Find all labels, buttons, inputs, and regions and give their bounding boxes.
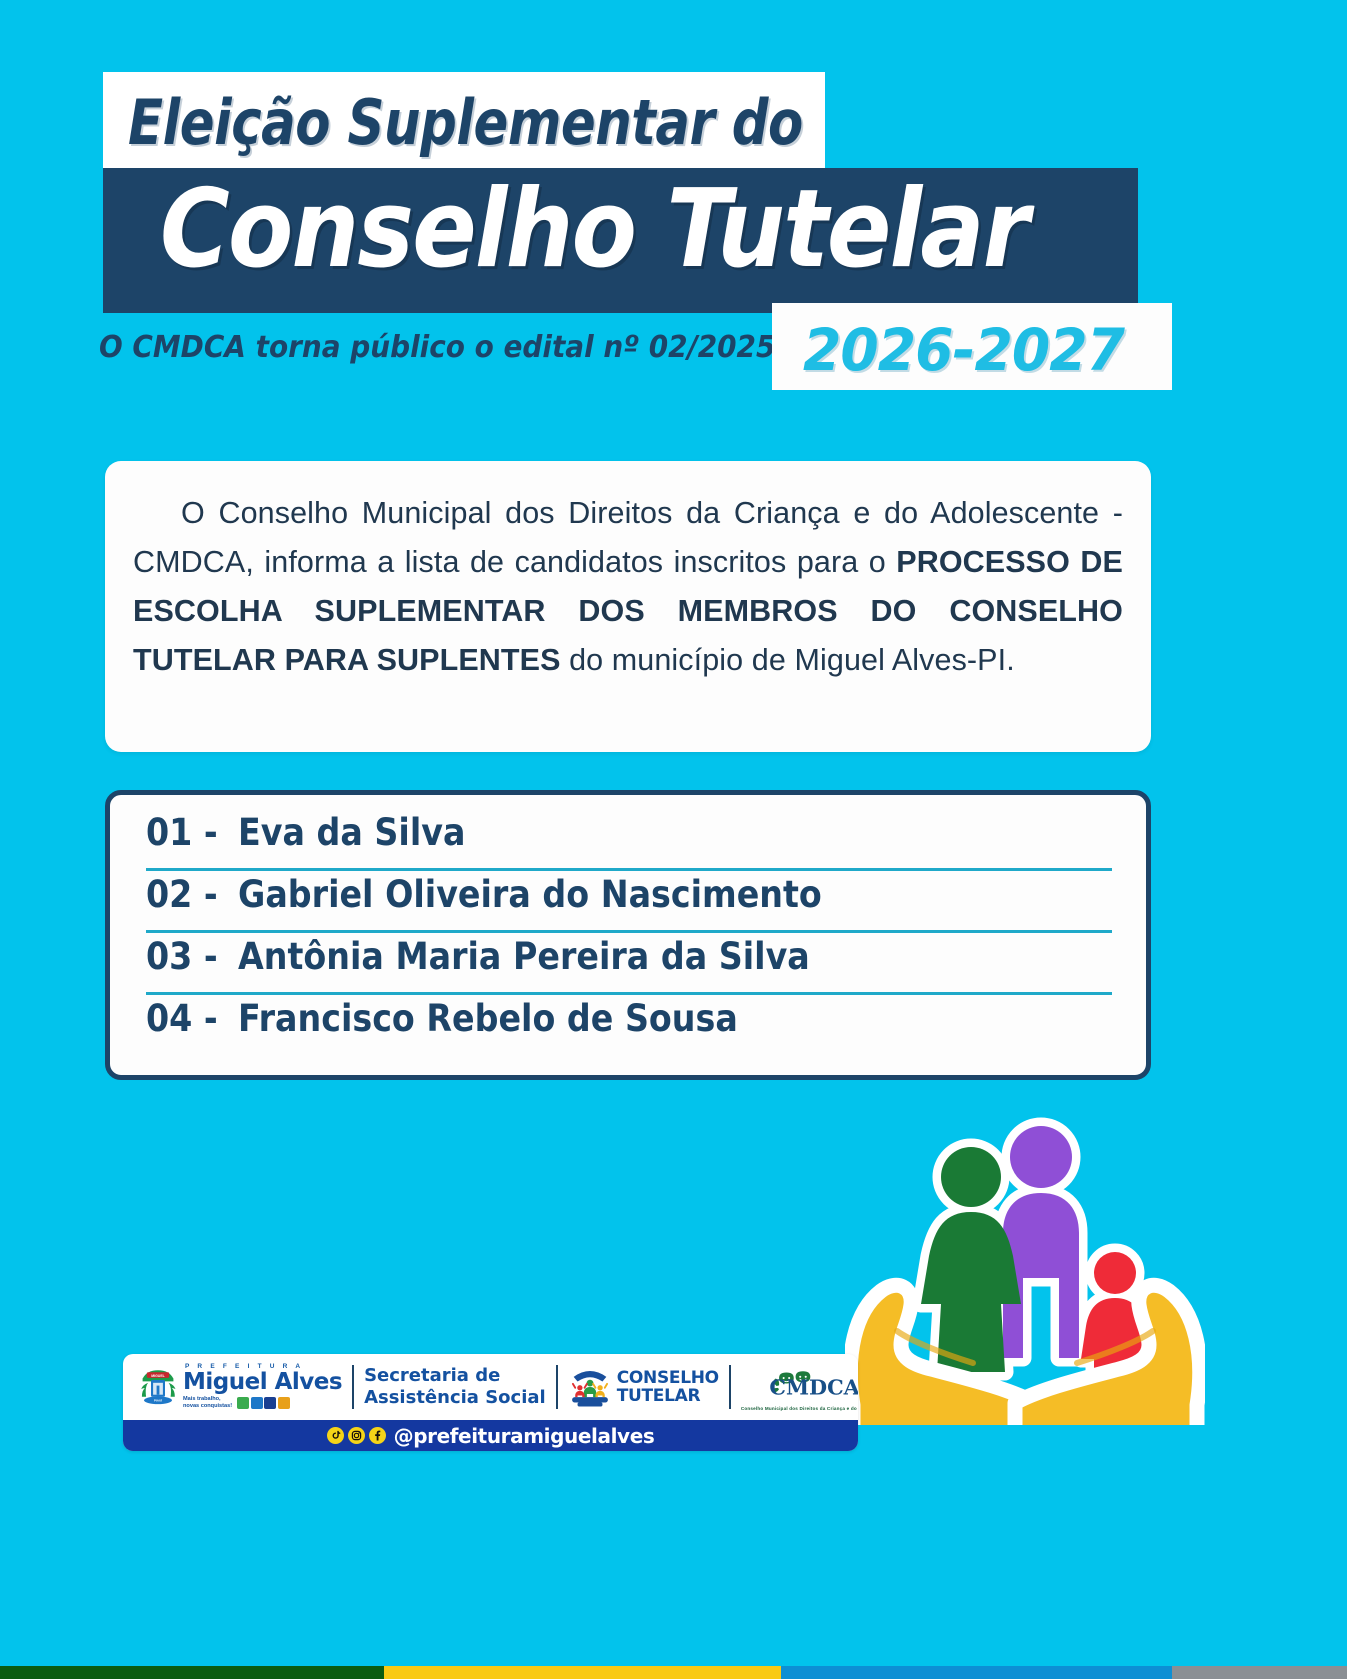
candidate-list-card: 01 - Eva da Silva 02 - Gabriel Oliveira … — [105, 790, 1151, 1080]
list-item: 01 - Eva da Silva — [146, 809, 1112, 871]
poster-canvas: Eleição Suplementar do Conselho Tutelar … — [0, 0, 1347, 1679]
candidate-list: 01 - Eva da Silva 02 - Gabriel Oliveira … — [146, 809, 1112, 1057]
candidate-name: Francisco Rebelo de Sousa — [238, 997, 738, 1040]
social-icons-group — [327, 1427, 386, 1444]
footer-logos-row: MIGUEL PIAUÍ P R E F E I T U R A M — [123, 1354, 858, 1420]
years-badge: 2026-2027 — [803, 316, 1124, 384]
tiktok-icon[interactable] — [327, 1427, 344, 1444]
announcement-card: O Conselho Municipal dos Direitos da Cri… — [105, 461, 1151, 752]
chip-blue-icon — [251, 1397, 263, 1409]
candidate-number: 04 - — [146, 997, 216, 1040]
facebook-icon[interactable] — [369, 1427, 386, 1444]
footer-divider — [729, 1365, 731, 1409]
conselho-tutelar-logo: CONSELHO TUTELAR — [568, 1354, 719, 1420]
svg-text:MIGUEL: MIGUEL — [151, 1374, 165, 1378]
strip-segment-green — [0, 1666, 384, 1679]
footer-divider — [556, 1365, 558, 1409]
candidate-number: 03 - — [146, 935, 216, 978]
announcement-text: O Conselho Municipal dos Direitos da Cri… — [133, 489, 1123, 685]
prefeitura-chip-icons — [237, 1397, 290, 1409]
chip-green-icon — [237, 1397, 249, 1409]
man-figure — [1003, 1126, 1079, 1358]
social-media-bar[interactable]: @prefeituramiguelalves — [123, 1420, 858, 1451]
hands-holding-family-illustration — [845, 1105, 1205, 1425]
secretaria-line2: Assistência Social — [364, 1387, 546, 1408]
social-handle[interactable]: @prefeituramiguelalves — [394, 1424, 655, 1448]
announcement-part2: do município de Miguel Alves-PI. — [561, 643, 1015, 677]
candidate-number: 01 - — [146, 811, 216, 854]
list-item: 02 - Gabriel Oliveira do Nascimento — [146, 871, 1112, 933]
prefeitura-name: Miguel Alves — [183, 1371, 342, 1394]
secretaria-assistencia-social-label: Secretaria de Assistência Social — [364, 1354, 546, 1420]
header-subtitle: O CMDCA torna público o edital nº 02/202… — [99, 330, 775, 365]
candidate-name: Gabriel Oliveira do Nascimento — [238, 873, 822, 916]
cmdca-logo: CMDCA Conselho Municipal dos Direitos da… — [741, 1354, 858, 1420]
list-item: 04 - Francisco Rebelo de Sousa — [146, 995, 1112, 1057]
footer-logo-strip: MIGUEL PIAUÍ P R E F E I T U R A M — [123, 1354, 858, 1451]
candidate-name: Eva da Silva — [238, 811, 465, 854]
cmdca-wordmark: CMDCA — [770, 1375, 858, 1400]
chip-darkblue-icon — [264, 1397, 276, 1409]
secretaria-line1: Secretaria de — [364, 1365, 500, 1386]
poster-header: Eleição Suplementar do Conselho Tutelar … — [0, 0, 1347, 420]
footer-divider — [352, 1365, 354, 1409]
cmdca-icon: CMDCA — [768, 1363, 858, 1409]
conselho-tutelar-icon — [568, 1366, 612, 1408]
candidate-name: Antônia Maria Pereira da Silva — [238, 935, 810, 978]
municipal-crest-icon: MIGUEL PIAUÍ — [137, 1366, 179, 1408]
strip-segment-blue — [781, 1666, 1172, 1679]
bottom-color-strip — [0, 1666, 1347, 1679]
cmdca-subtitle: Conselho Municipal dos Direitos da Crian… — [741, 1406, 858, 1411]
chip-orange-icon — [278, 1397, 290, 1409]
page-title-line1: Eleição Suplementar do — [128, 86, 803, 159]
instagram-icon[interactable] — [348, 1427, 365, 1444]
candidate-number: 02 - — [146, 873, 216, 916]
svg-text:PIAUÍ: PIAUÍ — [154, 1398, 162, 1403]
prefeitura-tagline: Mais trabalho, novas conquistas! — [183, 1396, 232, 1410]
strip-segment-yellow — [384, 1666, 781, 1679]
page-title-line2: Conselho Tutelar — [160, 176, 1028, 284]
list-item: 03 - Antônia Maria Pereira da Silva — [146, 933, 1112, 995]
strip-segment-gray — [1172, 1666, 1347, 1679]
prefeitura-miguel-alves-logo: MIGUEL PIAUÍ P R E F E I T U R A M — [137, 1354, 342, 1420]
conselho-tutelar-line2: TUTELAR — [617, 1387, 719, 1405]
conselho-tutelar-line1: CONSELHO — [617, 1369, 719, 1387]
